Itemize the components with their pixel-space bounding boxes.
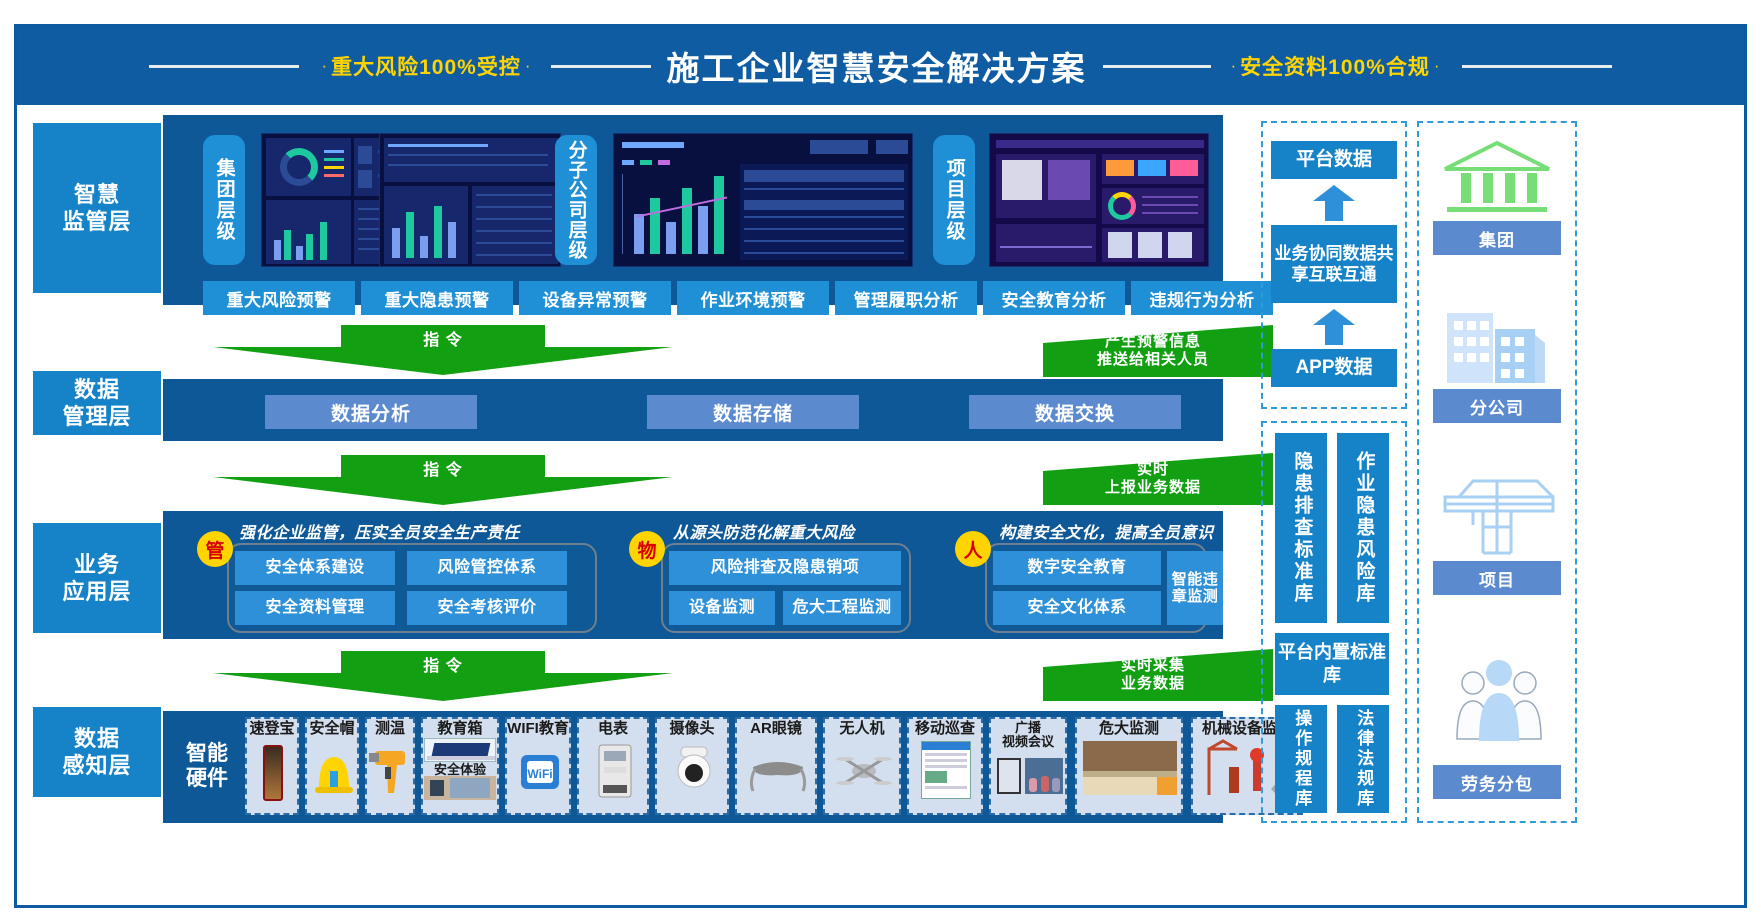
alert-button-1[interactable]: 重大隐患预警	[361, 281, 513, 315]
hardware-title: 智能 硬件	[173, 741, 241, 791]
crane-icon	[1437, 467, 1561, 564]
device-card-2[interactable]: 测温	[365, 717, 415, 815]
drone-icon	[825, 737, 899, 813]
alert-button-4[interactable]: 管理履职分析	[835, 281, 977, 315]
level-pill-group[interactable]: 集团层级	[203, 135, 245, 265]
page-title: 施工企业智慧安全解决方案	[667, 42, 1087, 90]
org-label-project[interactable]: 项目	[1433, 561, 1561, 595]
header-banner: · 重大风险100%受控 · 施工企业智慧安全解决方案 · 安全资料100%合规…	[17, 27, 1744, 105]
helmet-icon	[307, 737, 357, 813]
banner-rule-left	[149, 65, 299, 68]
arrow-alert-push-label: 产生预警信息 推送给相关人员	[1033, 333, 1273, 369]
standard-box-operation-procedure[interactable]: 操作规程库	[1275, 705, 1327, 813]
biz-item-ren-2[interactable]: 安全文化体系	[993, 591, 1161, 625]
org-label-labor[interactable]: 劳务分包	[1433, 765, 1561, 799]
banner-rule-mid-right	[1103, 65, 1211, 68]
camera-icon	[657, 737, 727, 813]
device-label-9: 移动巡查	[915, 721, 975, 737]
arrow-realtime-collect-label: 实时采集 业务数据	[1033, 657, 1273, 693]
biz-badge-guan: 管	[197, 531, 233, 567]
alert-button-0[interactable]: 重大风险预警	[203, 281, 355, 315]
layer-label-supervision[interactable]: 智慧 监管层	[33, 123, 161, 293]
biz-badge-ren: 人	[955, 531, 991, 567]
device-card-1[interactable]: 安全帽	[305, 717, 359, 815]
device-card-5[interactable]: 电表	[577, 717, 649, 815]
device-label-6: 摄像头	[669, 721, 714, 737]
biz-item-guan-1[interactable]: 风险管控体系	[407, 551, 567, 585]
dashboard-branch-level	[613, 133, 913, 267]
people-icon	[1449, 651, 1549, 756]
level-pill-project[interactable]: 项目层级	[933, 135, 975, 265]
education-box-icon	[424, 738, 496, 762]
diagram-root: · 重大风险100%受控 · 施工企业智慧安全解决方案 · 安全资料100%合规…	[0, 0, 1761, 924]
ar-glasses-icon	[737, 737, 815, 813]
dm-item-2[interactable]: 数据交换	[969, 395, 1181, 429]
alert-button-5[interactable]: 安全教育分析	[983, 281, 1125, 315]
device-label-4: WIFI教育	[507, 721, 569, 737]
safety-experience-icon	[424, 776, 496, 800]
right-box-platform-data[interactable]: 平台数据	[1271, 141, 1397, 179]
wifi-icon: WiFi	[507, 737, 569, 813]
layer-label-data-management[interactable]: 数据 管理层	[33, 371, 161, 435]
bullet-dot-right: ·	[1227, 56, 1241, 76]
header-right-tag: 安全资料100%合规	[1240, 51, 1430, 81]
level-pill-project-label: 项目层级	[943, 158, 964, 242]
standard-box-operation-hazard-risk[interactable]: 作业隐患风险库	[1337, 433, 1389, 623]
bullet-dot-right2: ·	[1430, 56, 1444, 76]
device-card-7[interactable]: AR眼镜	[735, 717, 817, 815]
arrow-command-1-label: 指 令	[213, 331, 673, 350]
bullet-dot-left: ·	[317, 56, 331, 76]
bank-icon	[1433, 137, 1561, 220]
device-card-9[interactable]: 移动巡查	[907, 717, 983, 815]
org-label-group[interactable]: 集团	[1433, 221, 1561, 255]
alert-button-2[interactable]: 设备异常预警	[519, 281, 671, 315]
device-label-3b: 安全体验	[434, 763, 486, 777]
alert-button-6[interactable]: 违规行为分析	[1131, 281, 1273, 315]
biz-item-ren-0[interactable]: 数字安全教育	[993, 551, 1161, 585]
device-label-2: 测温	[375, 721, 405, 737]
header-left-tag: 重大风险100%受控	[331, 51, 521, 81]
bullet-dot-left2: ·	[521, 56, 535, 76]
device-label-8: 无人机	[839, 721, 884, 737]
thermometer-gun-icon	[367, 737, 413, 813]
biz-item-wu-1[interactable]: 设备监测	[669, 591, 775, 625]
standard-box-builtin[interactable]: 平台内置标准库	[1275, 633, 1389, 695]
biz-title-ren: 构建安全文化，提高全员意识	[999, 519, 1214, 543]
biz-item-guan-2[interactable]: 安全资料管理	[235, 591, 395, 625]
arrow-command-2-label: 指 令	[213, 461, 673, 480]
device-label-1: 安全帽	[309, 721, 354, 737]
diagram-frame: · 重大风险100%受控 · 施工企业智慧安全解决方案 · 安全资料100%合规…	[14, 24, 1747, 908]
device-label-5: 电表	[598, 721, 628, 737]
standard-box-hazard-inspection[interactable]: 隐患排查标准库	[1275, 433, 1327, 623]
electric-meter-icon	[579, 737, 647, 813]
device-label-0: 速登宝	[249, 721, 294, 737]
device-label-7: AR眼镜	[750, 721, 802, 737]
broadcast-conference-icon	[991, 748, 1065, 813]
level-pill-branch[interactable]: 分子公司层级	[555, 135, 597, 265]
device-card-8[interactable]: 无人机	[823, 717, 901, 815]
layer-label-perception[interactable]: 数据 感知层	[33, 707, 161, 797]
biz-badge-wu: 物	[629, 531, 665, 567]
standard-box-laws-regulations[interactable]: 法律法规库	[1337, 705, 1389, 813]
dm-item-1[interactable]: 数据存储	[647, 395, 859, 429]
level-pill-group-label: 集团层级	[213, 158, 234, 242]
biz-item-guan-0[interactable]: 安全体系建设	[235, 551, 395, 585]
banner-rule-right	[1462, 65, 1612, 68]
smartphone-icon	[247, 737, 297, 813]
svg-text:WiFi: WiFi	[527, 767, 552, 781]
device-card-0[interactable]: 速登宝	[245, 717, 299, 815]
device-card-6[interactable]: 摄像头	[655, 717, 729, 815]
up-arrow-2	[1313, 309, 1355, 345]
arrow-realtime-report-label: 实时 上报业务数据	[1033, 461, 1273, 497]
buildings-icon	[1437, 295, 1557, 392]
device-card-3[interactable]: 教育箱 安全体验	[421, 717, 499, 815]
org-label-branch[interactable]: 分公司	[1433, 389, 1561, 423]
biz-title-guan: 强化企业监管，压实全员安全生产责任	[239, 519, 520, 543]
device-label-3: 教育箱	[437, 721, 482, 737]
up-arrow-1	[1313, 185, 1355, 221]
device-label-10: 广播 视频会议	[1002, 721, 1054, 748]
dashboard-project-level	[989, 133, 1209, 267]
device-label-11: 危大监测	[1099, 721, 1159, 737]
alert-button-3[interactable]: 作业环境预警	[677, 281, 829, 315]
dm-item-0[interactable]: 数据分析	[265, 395, 477, 429]
banner-rule-mid-left	[551, 65, 651, 68]
hazard-monitoring-icon	[1077, 737, 1181, 813]
dashboard-group-level-2	[379, 133, 561, 267]
layer-label-business[interactable]: 业务 应用层	[33, 523, 161, 633]
device-card-10[interactable]: 广播 视频会议	[989, 717, 1067, 815]
biz-item-guan-3[interactable]: 安全考核评价	[407, 591, 567, 625]
device-card-11[interactable]: 危大监测	[1075, 717, 1183, 815]
biz-title-wu: 从源头防范化解重大风险	[673, 519, 855, 543]
level-pill-branch-label: 分子公司层级	[565, 140, 586, 260]
biz-item-ren-1[interactable]: 智能违章监测	[1167, 551, 1223, 625]
biz-item-wu-2[interactable]: 危大工程监测	[783, 591, 901, 625]
arrow-command-3-label: 指 令	[213, 657, 673, 676]
device-card-4[interactable]: WIFI教育 WiFi	[505, 717, 571, 815]
right-box-app-data[interactable]: APP数据	[1271, 349, 1397, 387]
right-box-collaborative-data[interactable]: 业务协同数据共享互联互通	[1271, 225, 1397, 303]
mobile-inspection-icon	[909, 737, 981, 813]
biz-item-wu-0[interactable]: 风险排查及隐患销项	[669, 551, 901, 585]
